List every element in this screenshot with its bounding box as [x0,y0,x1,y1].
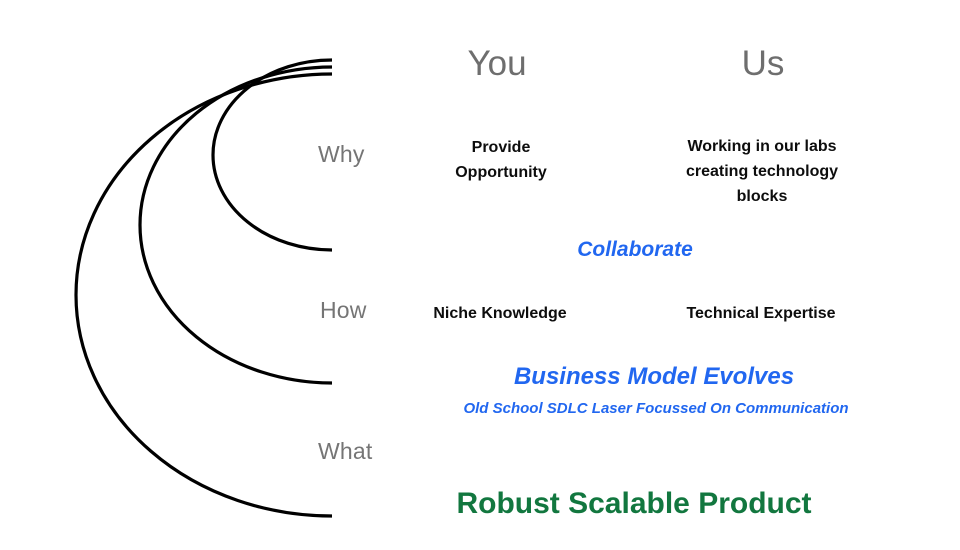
cell-how-you: Niche Knowledge [433,302,566,327]
connector-business-model: Business Model Evolves [514,365,794,389]
column-header-us: Us [742,46,785,81]
connector-collaborate: Collaborate [577,239,693,260]
slide-canvas: Why How What You Us Provide Opportunity … [0,0,960,550]
outcome-text: Robust Scalable Product [456,489,811,519]
ring-label-how: How [320,299,367,322]
arc-how [140,67,332,383]
arc-what [76,74,332,516]
ring-label-why: Why [318,143,365,166]
cell-why-us: Working in our labs creating technology … [663,135,861,209]
cell-why-you: Provide Opportunity [455,136,547,186]
connector-sdlc: Old School SDLC Laser Focussed On Commun… [463,401,848,416]
column-header-you: You [467,46,526,81]
arc-why [213,60,332,250]
cell-how-us: Technical Expertise [686,302,835,327]
ring-label-what: What [318,440,372,463]
